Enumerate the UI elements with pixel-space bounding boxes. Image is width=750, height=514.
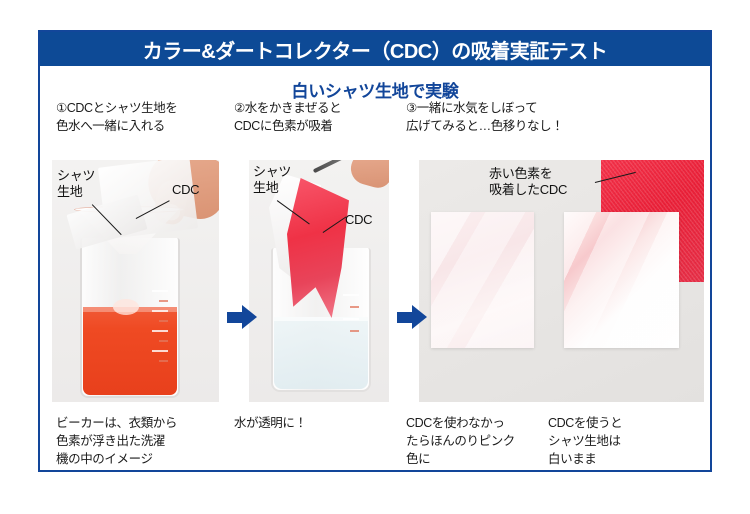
arrow-step2-to-step3 <box>397 305 427 329</box>
graduation-mark <box>159 300 168 302</box>
graduation-mark <box>152 350 168 352</box>
infographic-frame: カラー&ダートコレクター（CDC）の吸着実証テスト 白いシャツ生地で実験 ①CD… <box>38 30 712 472</box>
subtitle: 白いシャツ生地で実験 <box>40 77 710 102</box>
caption-row: ビーカーは、衣類から 色素が浮き出た洗濯 機の中のイメージ 水が透明に！ CDC… <box>56 414 702 468</box>
step-headings: ①CDCとシャツ生地を 色水へ一緒に入れる ②水をかきまぜると CDCに色素が吸… <box>56 100 700 136</box>
foam-bubble <box>113 299 139 315</box>
graduation-mark <box>159 360 168 362</box>
graduation-mark <box>350 306 359 308</box>
label-cdc-absorbed-red-dye: 赤い色素を 吸着したCDC <box>489 166 567 199</box>
graduation-mark <box>159 340 168 342</box>
step-heading-1: ①CDCとシャツ生地を 色水へ一緒に入れる <box>56 100 234 136</box>
label-cdc: CDC <box>172 182 199 198</box>
graduation-mark <box>159 320 168 322</box>
page-title: カラー&ダートコレクター（CDC）の吸着実証テスト <box>143 35 607 64</box>
arrow-head <box>242 305 257 329</box>
graduation-mark <box>152 290 168 292</box>
graduation-mark <box>152 330 168 332</box>
step-heading-3: ③一緒に水気をしぼって 広げてみると…色移りなし！ <box>406 100 686 136</box>
caption-with-cdc: CDCを使うと シャツ生地は 白いまま <box>548 414 688 468</box>
arrow-head <box>412 305 427 329</box>
beaker-glass <box>80 238 180 398</box>
graduation-mark <box>152 310 168 312</box>
label-shirt-fabric: シャツ 生地 <box>57 168 95 201</box>
graduation-mark <box>343 294 359 296</box>
graduation-mark <box>343 318 359 320</box>
graduation-mark <box>350 330 359 332</box>
fabric-without-cdc <box>431 212 534 348</box>
clear-water-liquid <box>274 317 368 389</box>
label-cdc: CDC <box>345 212 372 228</box>
caption-beaker: ビーカーは、衣類から 色素が浮き出た洗濯 機の中のイメージ <box>56 414 234 468</box>
photo-panel-fabric-comparison: 赤い色素を 吸着したCDC <box>419 160 704 402</box>
photo-panel-beaker-with-dye-water: シャツ 生地 CDC <box>52 160 219 402</box>
caption-clear-water: 水が透明に！ <box>234 414 406 468</box>
photo-panel-beaker-with-clear-water: シャツ 生地 CDC <box>249 160 389 402</box>
caption-without-cdc: CDCを使わなかっ たらほんのりピンク 色に <box>406 414 548 468</box>
title-bar: カラー&ダートコレクター（CDC）の吸着実証テスト <box>40 32 710 66</box>
label-shirt-fabric: シャツ 生地 <box>253 164 291 197</box>
arrow-step1-to-step2 <box>227 305 257 329</box>
fabric-with-cdc <box>564 212 679 348</box>
step-heading-2: ②水をかきまぜると CDCに色素が吸着 <box>234 100 406 136</box>
